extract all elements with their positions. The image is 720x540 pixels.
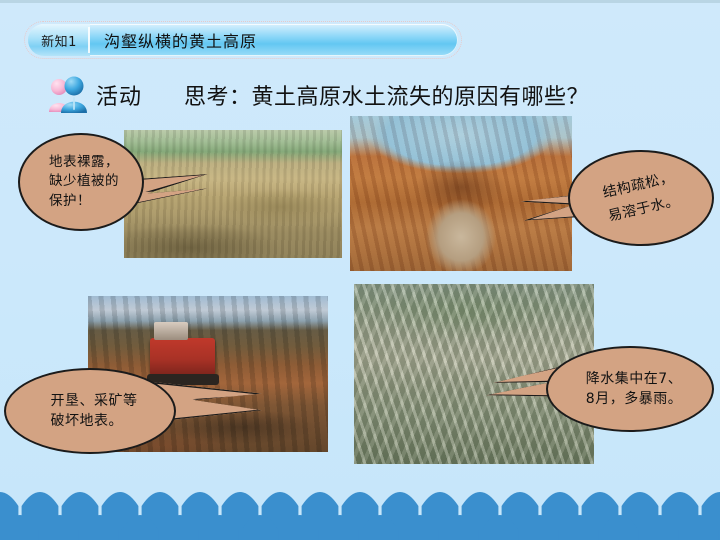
callout-concentrated-rainfall[interactable]: 降水集中在7、 8月，多暴雨。 (546, 346, 714, 432)
activity-label: 活动 (96, 79, 142, 111)
activity-question: 思考：黄土高原水土流失的原因有哪些？ (184, 79, 589, 111)
bottom-scallop-decoration (0, 468, 720, 540)
section-title-bar[interactable]: 新知1 沟壑纵横的黄土高原 (28, 24, 458, 56)
photo-loess-arch-image (350, 116, 572, 271)
two-people-icon (46, 76, 92, 114)
section-badge-label: 新知1 (41, 31, 77, 50)
callout-human-activity[interactable]: 开垦、采矿等 破坏地表。 (4, 368, 176, 454)
top-divider (0, 0, 720, 3)
photo-loess-arch[interactable] (350, 116, 572, 271)
section-badge: 新知1 (28, 24, 90, 56)
callout-loose-structure-text: 结构疏松， 易溶于水。 (600, 167, 681, 230)
bulldozer-shape (150, 338, 215, 375)
activity-row: 活动 思考：黄土高原水土流失的原因有哪些？ (46, 76, 589, 114)
section-title-text: 沟壑纵横的黄土高原 (90, 28, 257, 52)
callout-human-activity-text: 开垦、采矿等 破坏地表。 (43, 391, 138, 432)
callout-loose-structure[interactable]: 结构疏松， 易溶于水。 (568, 150, 714, 246)
callout-concentrated-rainfall-text: 降水集中在7、 8月，多暴雨。 (578, 369, 682, 410)
callout-bare-surface-text: 地表裸露， 缺少植被的 保护！ (43, 153, 119, 212)
callout-bare-surface[interactable]: 地表裸露， 缺少植被的 保护！ (18, 133, 144, 231)
slide-canvas: 新知1 沟壑纵横的黄土高原 (0, 0, 720, 540)
